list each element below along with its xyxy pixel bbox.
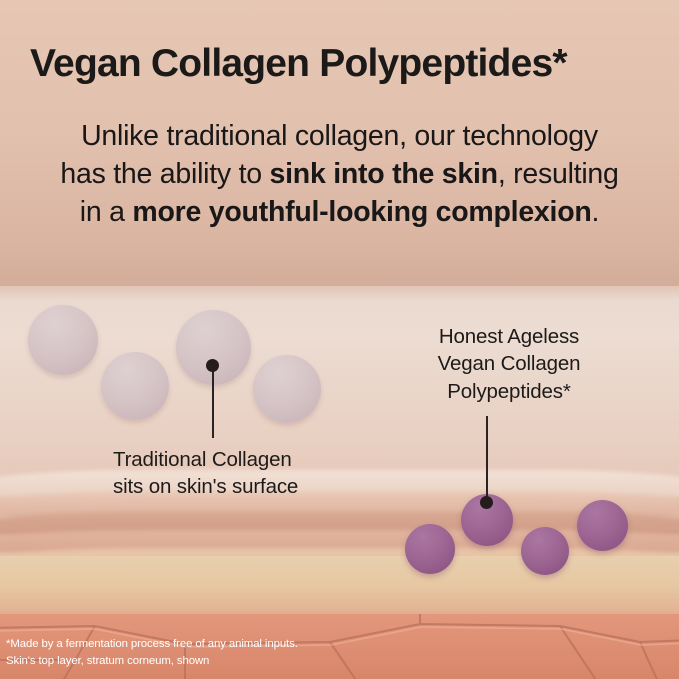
subtitle-emphasis-1: sink into the skin (270, 158, 498, 190)
subtitle: Unlike traditional collagen, our technol… (38, 118, 641, 232)
traditional-collagen-sphere-1 (28, 305, 98, 375)
callout-label-traditional-collagen: Traditional Collagen sits on skin's surf… (113, 446, 298, 500)
skin-dermis-layer (0, 556, 679, 622)
vegan-polypeptide-sphere-1 (405, 524, 455, 574)
callout-dot-right (480, 496, 493, 509)
vegan-polypeptide-sphere-3 (521, 527, 569, 575)
footnote-text: *Made by a fermentation process free of … (6, 636, 298, 669)
callout-line-right (486, 416, 488, 504)
subtitle-line-2-lead: has the ability to (60, 158, 269, 190)
subtitle-emphasis-2: more youthful-looking complexion (132, 196, 591, 228)
page-title: Vegan Collagen Polypeptides* (30, 44, 655, 85)
callout-line-left (212, 370, 214, 438)
subtitle-line-3-tail: . (592, 196, 600, 228)
traditional-collagen-sphere-4 (253, 355, 321, 423)
callout-dot-left (206, 359, 219, 372)
subtitle-line-2-tail: , resulting (498, 158, 619, 190)
vegan-polypeptide-sphere-4 (577, 500, 628, 551)
subtitle-line-1: Unlike traditional collagen, our technol… (81, 120, 598, 152)
infographic-canvas: Vegan Collagen Polypeptides* Unlike trad… (0, 0, 679, 679)
callout-label-vegan-polypeptides: Honest Ageless Vegan Collagen Polypeptid… (414, 323, 604, 405)
traditional-collagen-sphere-2 (101, 352, 169, 420)
subtitle-line-3-lead: in a (80, 196, 133, 228)
